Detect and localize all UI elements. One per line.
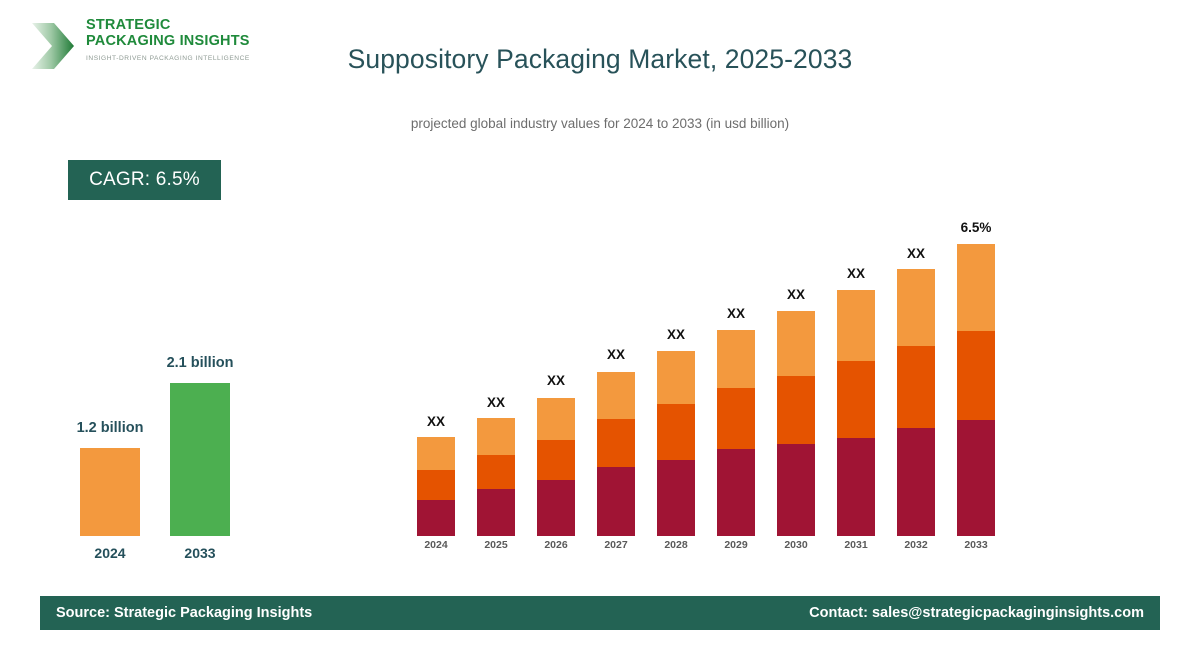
stacked-segment-segment-bottom-2029 [717,449,755,536]
stacked-segment-segment-middle-2033 [957,331,995,420]
stacked-bar-2030 [777,311,815,536]
stacked-bar-2024 [417,438,455,536]
stacked-top-label-2032: XX [886,246,946,261]
stacked-segment-segment-bottom-2031 [837,438,875,536]
yearly-stacked-forecast-chart: XX2024XX2025XX2026XX2027XX2028XX2029XX20… [0,0,1200,650]
stacked-segment-segment-bottom-2033 [957,420,995,536]
stacked-bar-2025 [477,419,515,536]
stacked-bar-2032 [897,270,935,536]
infographic-page: STRATEGIC PACKAGING INSIGHTS INSIGHT-DRI… [0,0,1200,650]
stacked-segment-segment-top-2024 [417,437,455,470]
stacked-segment-segment-middle-2030 [777,376,815,444]
stacked-year-label-2024: 2024 [406,539,466,551]
stacked-year-label-2028: 2028 [646,539,706,551]
stacked-segment-segment-top-2032 [897,269,935,346]
stacked-bar-2031 [837,290,875,536]
stacked-segment-segment-bottom-2025 [477,489,515,536]
stacked-segment-segment-middle-2031 [837,361,875,438]
stacked-top-label-2029: XX [706,306,766,321]
stacked-year-label-2029: 2029 [706,539,766,551]
stacked-segment-segment-bottom-2028 [657,460,695,536]
stacked-segment-segment-bottom-2024 [417,500,455,536]
stacked-bar-2033 [957,244,995,536]
stacked-segment-segment-top-2027 [597,372,635,419]
stacked-segment-segment-middle-2029 [717,388,755,449]
stacked-top-label-2024: XX [406,414,466,429]
stacked-segment-segment-top-2026 [537,398,575,440]
stacked-bar-2028 [657,351,695,536]
stacked-year-label-2027: 2027 [586,539,646,551]
stacked-top-label-2025: XX [466,395,526,410]
stacked-year-label-2033: 2033 [946,539,1006,551]
stacked-segment-segment-middle-2025 [477,455,515,489]
stacked-segment-segment-bottom-2027 [597,467,635,536]
stacked-segment-segment-middle-2028 [657,404,695,460]
stacked-year-label-2026: 2026 [526,539,586,551]
stacked-segment-segment-top-2029 [717,330,755,388]
stacked-segment-segment-middle-2026 [537,440,575,480]
stacked-year-label-2032: 2032 [886,539,946,551]
stacked-year-label-2025: 2025 [466,539,526,551]
footer-source: Source: Strategic Packaging Insights [56,605,312,621]
stacked-segment-segment-top-2033 [957,244,995,331]
stacked-top-label-2026: XX [526,373,586,388]
stacked-bar-2029 [717,330,755,536]
stacked-top-label-2031: XX [826,266,886,281]
footer-bar: Source: Strategic Packaging Insights Con… [40,596,1160,630]
stacked-year-label-2031: 2031 [826,539,886,551]
stacked-year-label-2030: 2030 [766,539,826,551]
stacked-segment-segment-bottom-2030 [777,444,815,536]
stacked-bar-2027 [597,371,635,536]
stacked-top-label-2028: XX [646,327,706,342]
stacked-segment-segment-bottom-2032 [897,428,935,536]
stacked-bar-2026 [537,397,575,536]
footer-contact: Contact: sales@strategicpackaginginsight… [809,605,1144,621]
stacked-segment-segment-top-2031 [837,290,875,361]
stacked-segment-segment-middle-2027 [597,419,635,467]
stacked-segment-segment-middle-2024 [417,470,455,500]
stacked-segment-segment-top-2030 [777,311,815,376]
stacked-segment-segment-bottom-2026 [537,480,575,536]
stacked-top-label-2033: 6.5% [946,220,1006,235]
stacked-segment-segment-top-2025 [477,418,515,455]
stacked-segment-segment-top-2028 [657,351,695,404]
stacked-top-label-2027: XX [586,347,646,362]
stacked-segment-segment-middle-2032 [897,346,935,428]
stacked-top-label-2030: XX [766,287,826,302]
